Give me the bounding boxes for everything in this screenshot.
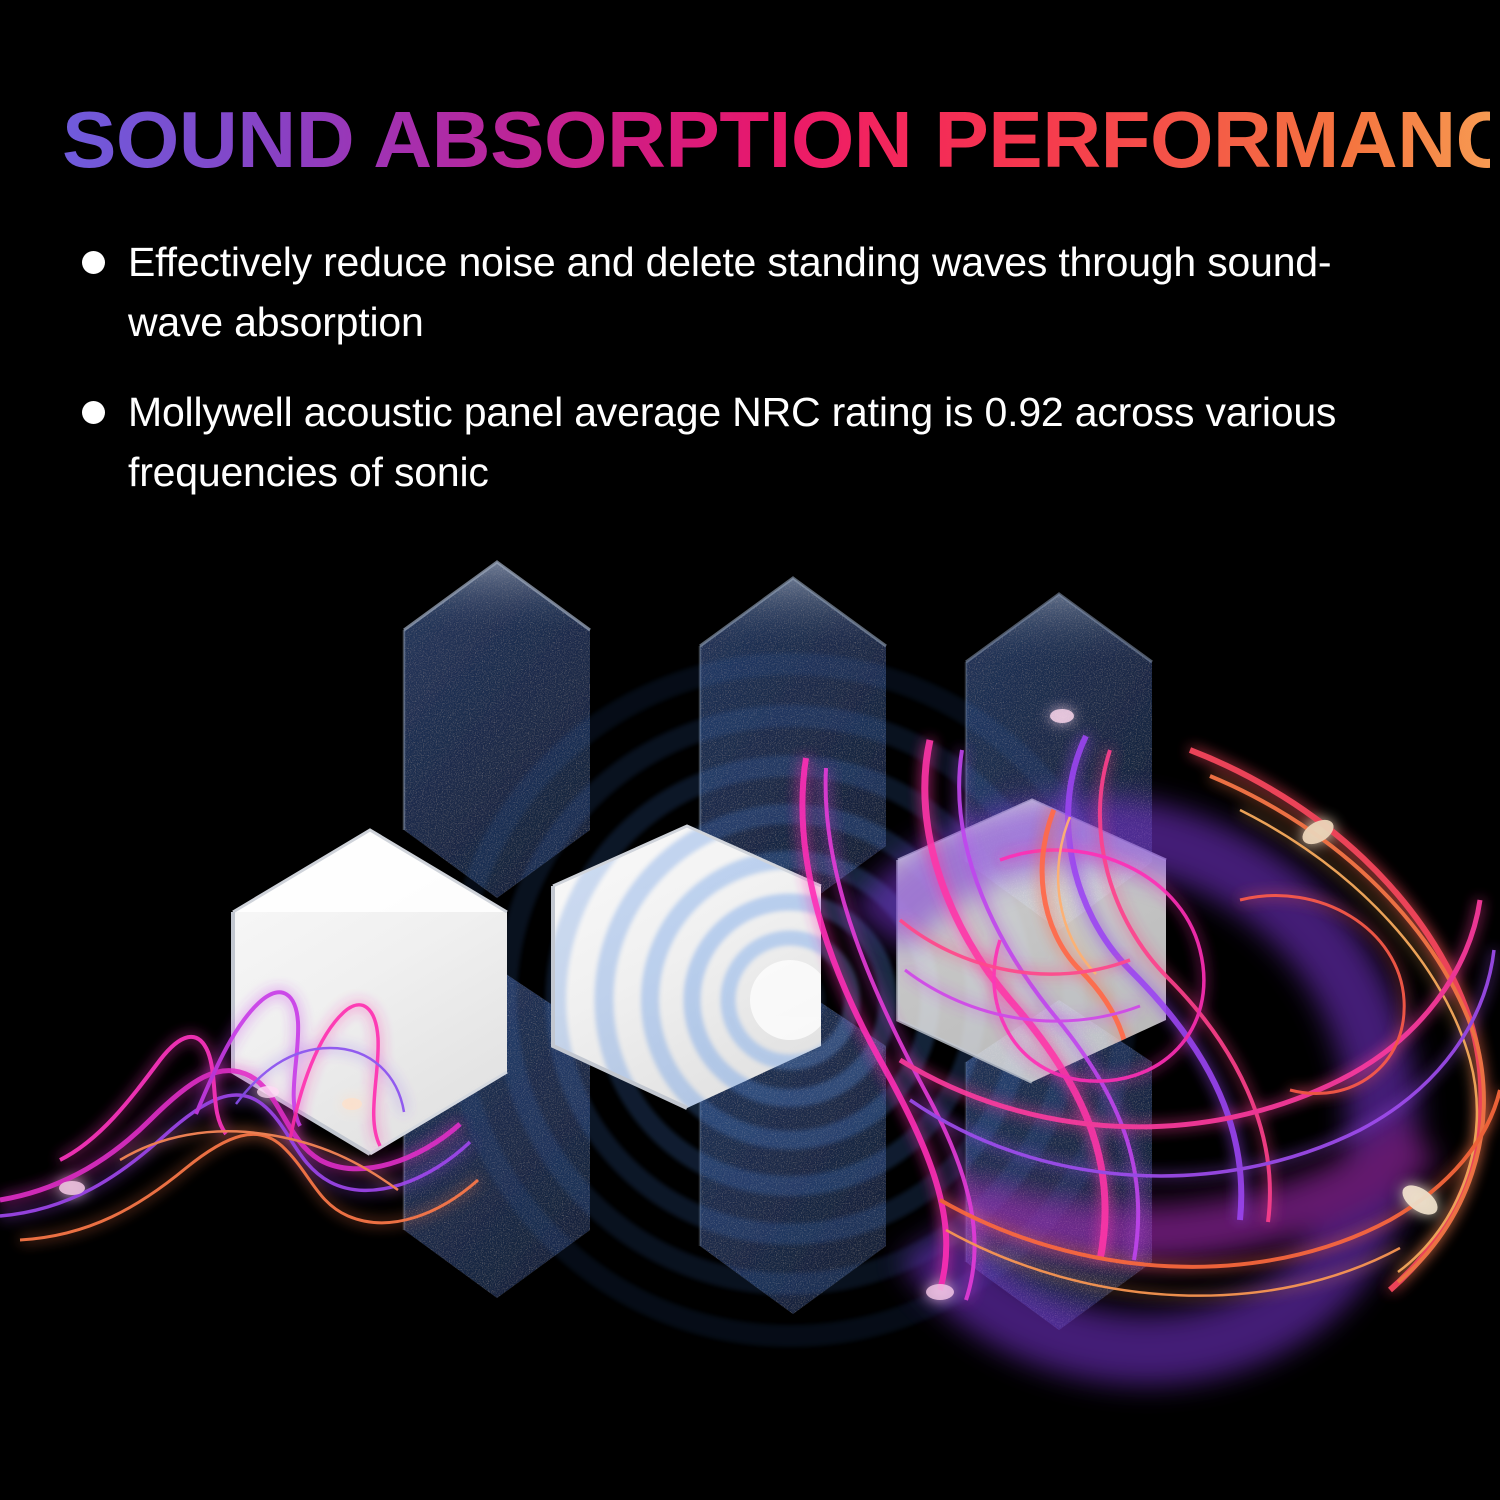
list-item: Mollywell acoustic panel average NRC rat… bbox=[78, 382, 1368, 502]
bullet-text: Mollywell acoustic panel average NRC rat… bbox=[128, 382, 1368, 502]
hexagon-panel-artwork bbox=[0, 500, 1500, 1500]
feature-bullet-list: Effectively reduce noise and delete stan… bbox=[78, 232, 1368, 532]
bullet-text: Effectively reduce noise and delete stan… bbox=[128, 232, 1368, 352]
bullet-circle-icon bbox=[82, 401, 105, 424]
bullet-circle-icon bbox=[82, 251, 105, 274]
list-item: Effectively reduce noise and delete stan… bbox=[78, 232, 1368, 352]
title-block: SOUND ABSORPTION PERFORMANCE bbox=[62, 96, 1462, 192]
product-feature-poster: SOUND ABSORPTION PERFORMANCE Effectively… bbox=[0, 0, 1500, 1500]
page-title: SOUND ABSORPTION PERFORMANCE bbox=[62, 96, 1490, 184]
